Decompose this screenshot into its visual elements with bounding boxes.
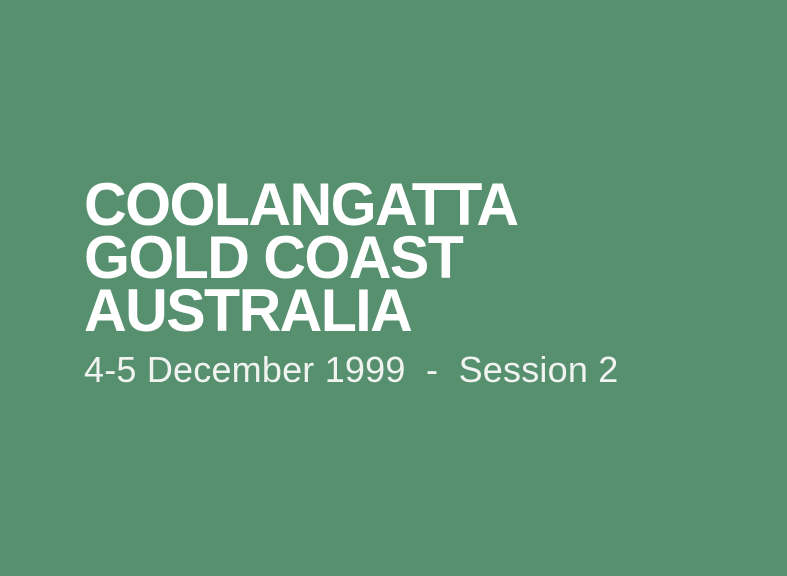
title-card: COOLANGATTA GOLD COAST AUSTRALIA 4-5 Dec… xyxy=(0,0,787,576)
headline-line-country: AUSTRALIA xyxy=(84,284,734,337)
title-text-block: COOLANGATTA GOLD COAST AUSTRALIA 4-5 Dec… xyxy=(84,178,744,390)
subtitle-date-session: 4-5 December 1999 - Session 2 xyxy=(84,350,744,390)
